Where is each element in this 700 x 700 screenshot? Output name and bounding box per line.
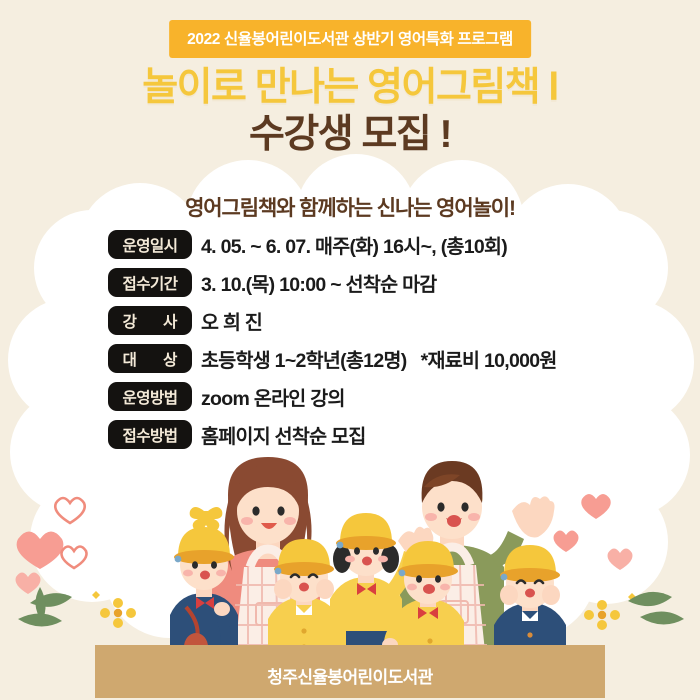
decor-left xyxy=(16,498,137,628)
info-label-target: 대 상 xyxy=(108,344,192,373)
info-value-application-method: 홈페이지 선착순 모집 xyxy=(201,420,366,449)
footer-bar: 청주신율봉어린이도서관 xyxy=(95,652,605,698)
info-value-instructor: 오 희 진 xyxy=(201,306,262,335)
info-label-method: 운영방법 xyxy=(108,382,192,411)
info-label-application-period: 접수기간 xyxy=(108,268,192,297)
info-row: 접수방법 홈페이지 선착순 모집 xyxy=(108,420,557,449)
info-row: 접수기간 3. 10.(목) 10:00 ~ 선착순 마감 xyxy=(108,268,557,297)
family-illustration xyxy=(0,455,700,660)
subtitle: 영어그림책와 함께하는 신나는 영어놀이! xyxy=(0,192,700,222)
title-line-1: 놀이로 만나는 영어그림책 l xyxy=(0,66,700,110)
info-row: 대 상 초등학생 1~2학년(총12명) *재료비 10,000원 xyxy=(108,344,557,373)
decor-right xyxy=(554,494,685,630)
program-ribbon: 2022 신율봉어린이도서관 상반기 영어특화 프로그램 xyxy=(169,20,531,58)
info-label-operating-date: 운영일시 xyxy=(108,230,192,259)
info-value-operating-date: 4. 05. ~ 6. 07. 매주(화) 16시~, (총10회) xyxy=(201,230,507,259)
info-row: 운영방법 zoom 온라인 강의 xyxy=(108,382,557,411)
info-value-application-period: 3. 10.(목) 10:00 ~ 선착순 마감 xyxy=(201,268,437,297)
info-label-application-method: 접수방법 xyxy=(108,420,192,449)
library-name: 청주신율봉어린이도서관 xyxy=(267,663,432,688)
info-value-target: 초등학생 1~2학년(총12명) *재료비 10,000원 xyxy=(201,344,557,373)
info-row: 강 사 오 희 진 xyxy=(108,306,557,335)
page-title: 놀이로 만나는 영어그림책 l 수강생 모집 ! xyxy=(0,66,700,157)
info-row: 운영일시 4. 05. ~ 6. 07. 매주(화) 16시~, (총10회) xyxy=(108,230,557,259)
poster-root: 2022 신율봉어린이도서관 상반기 영어특화 프로그램 놀이로 만나는 영어그… xyxy=(0,0,700,700)
info-label-instructor: 강 사 xyxy=(108,306,192,335)
info-list: 운영일시 4. 05. ~ 6. 07. 매주(화) 16시~, (총10회) … xyxy=(108,230,557,449)
title-line-2: 수강생 모집 ! xyxy=(0,112,700,157)
info-value-method: zoom 온라인 강의 xyxy=(201,382,345,411)
